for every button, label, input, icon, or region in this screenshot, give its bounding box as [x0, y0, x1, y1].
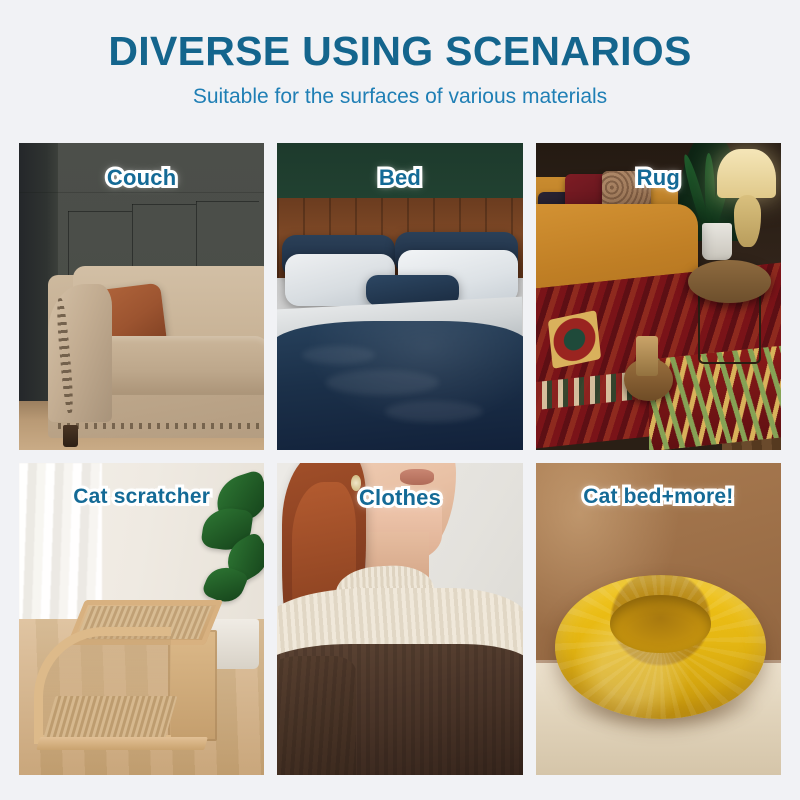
scenario-tile-cat-bed[interactable]: Cat bed+more! — [536, 463, 781, 775]
scenario-tile-clothes[interactable]: Clothes — [277, 463, 522, 775]
tile-label-bed: Bed — [379, 165, 421, 191]
tile-label-rug: Rug — [637, 165, 680, 191]
scenario-tile-bed[interactable]: Bed — [277, 143, 522, 450]
tile-label-couch: Couch — [107, 165, 176, 191]
scenario-grid: Couch Bed — [19, 143, 781, 775]
scenario-tile-rug[interactable]: Rug — [536, 143, 781, 450]
cat-scratcher-scene-image — [19, 463, 264, 775]
scenario-tile-couch[interactable]: Couch — [19, 143, 264, 450]
page-title: DIVERSE USING SCENARIOS — [0, 30, 800, 73]
cat-bed-scene-image — [536, 463, 781, 775]
page-subtitle: Suitable for the surfaces of various mat… — [0, 84, 800, 109]
tile-label-clothes: Clothes — [359, 485, 441, 511]
tile-label-cat-scratcher: Cat scratcher — [73, 485, 210, 509]
scenario-tile-cat-scratcher[interactable]: Cat scratcher — [19, 463, 264, 775]
page-header: DIVERSE USING SCENARIOS Suitable for the… — [0, 0, 800, 109]
tile-label-cat-bed: Cat bed+more! — [583, 485, 733, 509]
